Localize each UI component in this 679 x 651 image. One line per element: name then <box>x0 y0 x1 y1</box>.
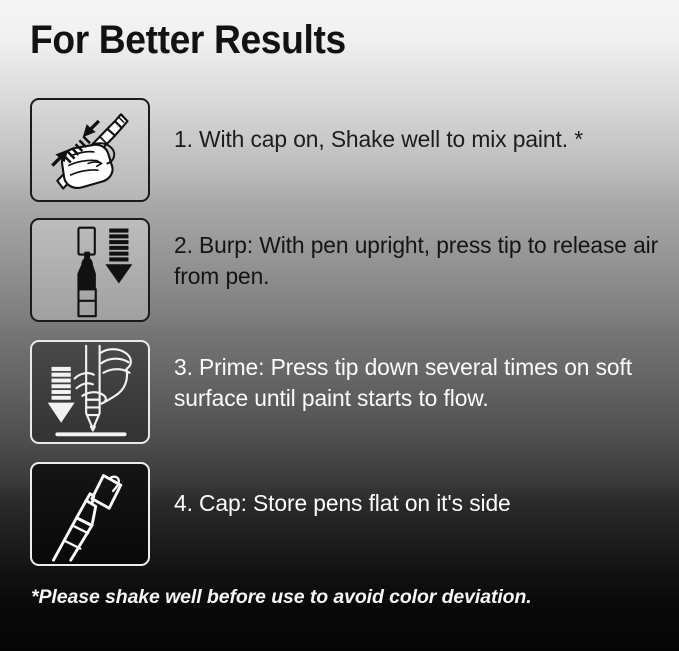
page-title: For Better Results <box>30 16 346 64</box>
cap-pen-icon <box>30 462 150 566</box>
instruction-step-1-text: 1. With cap on, Shake well to mix paint.… <box>174 98 583 155</box>
instruction-step-2: 2. Burp: With pen upright, press tip to … <box>30 218 674 322</box>
instruction-card: For Better Results <box>0 0 679 651</box>
instruction-step-4-text: 4. Cap: Store pens flat on it's side <box>174 462 511 519</box>
footnote: *Please shake well before use to avoid c… <box>31 585 532 609</box>
instruction-step-2-text: 2. Burp: With pen upright, press tip to … <box>174 218 659 292</box>
instruction-step-3: 3. Prime: Press tip down several times o… <box>30 340 674 444</box>
burp-pen-icon <box>30 218 150 322</box>
instruction-step-4: 4. Cap: Store pens flat on it's side <box>30 462 521 566</box>
instruction-step-3-text: 3. Prime: Press tip down several times o… <box>174 340 659 414</box>
instruction-step-1: 1. With cap on, Shake well to mix paint.… <box>30 98 596 202</box>
shake-pen-icon <box>30 98 150 202</box>
prime-pen-icon <box>30 340 150 444</box>
